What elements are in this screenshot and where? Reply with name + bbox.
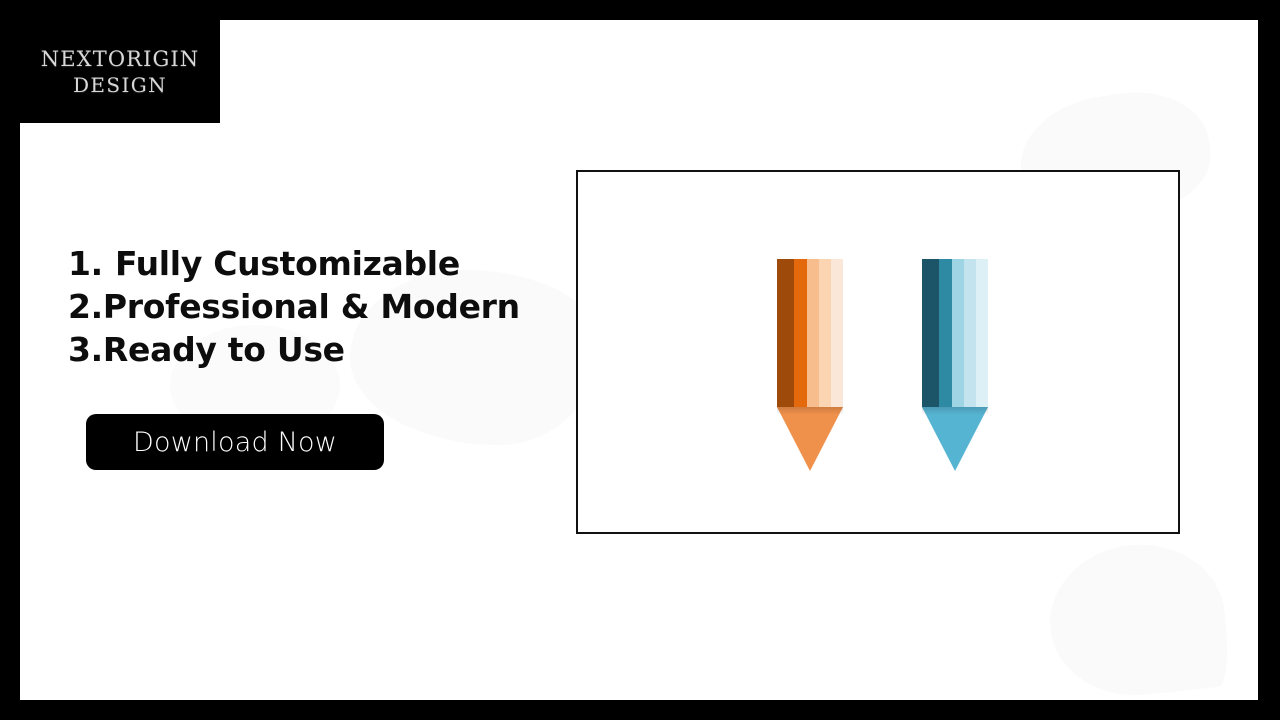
background-watermark-bottom-right bbox=[1043, 536, 1233, 700]
blue-pencil-stripe-1 bbox=[922, 259, 939, 407]
brand-logo-line-1: NEXTORIGIN bbox=[41, 46, 199, 72]
blue-pencil bbox=[922, 259, 988, 471]
feature-index-3: 3. bbox=[68, 328, 103, 371]
blue-pencil-tip-triangle bbox=[922, 407, 988, 471]
brand-logo-line-2: DESIGN bbox=[73, 72, 167, 98]
orange-pencil-stripe-3 bbox=[807, 259, 819, 407]
orange-pencil bbox=[777, 259, 843, 471]
download-now-button[interactable]: Download Now bbox=[86, 414, 384, 470]
blue-pencil-stripe-2 bbox=[939, 259, 952, 407]
blue-pencil-stripe-5 bbox=[976, 259, 988, 407]
artwork-frame bbox=[576, 170, 1180, 534]
slide-root: NEXTORIGIN DESIGN 1. Fully Customizable … bbox=[0, 0, 1280, 720]
blue-pencil-body bbox=[922, 259, 988, 407]
orange-pencil-stripe-1 bbox=[777, 259, 794, 407]
feature-list: 1. Fully Customizable 2. Professional & … bbox=[68, 242, 588, 371]
feature-label-3: Ready to Use bbox=[103, 328, 345, 371]
orange-pencil-stripe-4 bbox=[819, 259, 831, 407]
feature-list-item-3: 3. Ready to Use bbox=[68, 328, 588, 371]
feature-index-1: 1. bbox=[68, 242, 115, 285]
feature-label-2: Professional & Modern bbox=[103, 285, 520, 328]
orange-pencil-body bbox=[777, 259, 843, 407]
brand-logo-plate: NEXTORIGIN DESIGN bbox=[20, 20, 220, 123]
feature-list-item-2: 2. Professional & Modern bbox=[68, 285, 588, 328]
orange-pencil-tip-triangle bbox=[777, 407, 843, 471]
feature-list-item-1: 1. Fully Customizable bbox=[68, 242, 588, 285]
feature-index-2: 2. bbox=[68, 285, 103, 328]
orange-pencil-stripe-5 bbox=[831, 259, 843, 407]
blue-pencil-tip bbox=[922, 407, 988, 471]
blue-pencil-stripe-4 bbox=[964, 259, 976, 407]
slide-canvas: NEXTORIGIN DESIGN 1. Fully Customizable … bbox=[20, 20, 1258, 700]
orange-pencil-stripe-2 bbox=[794, 259, 807, 407]
feature-label-1: Fully Customizable bbox=[115, 242, 460, 285]
blue-pencil-stripe-3 bbox=[952, 259, 964, 407]
orange-pencil-tip bbox=[777, 407, 843, 471]
